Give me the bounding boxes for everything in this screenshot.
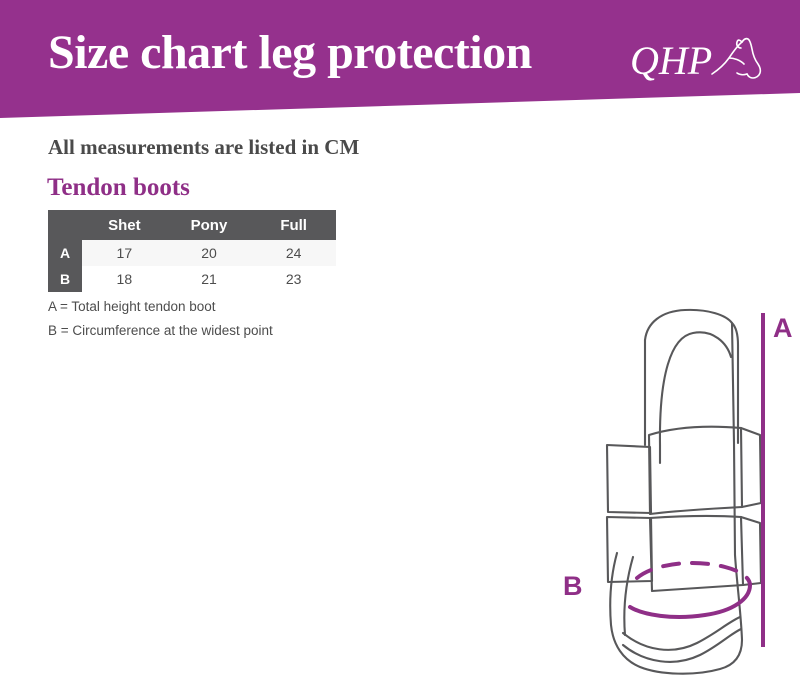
measurements-note: All measurements are listed in CM	[48, 135, 359, 160]
qhp-logo: QHP	[630, 36, 770, 88]
table-header-row: Shet Pony Full	[48, 210, 336, 240]
section-title-tendon-boots: Tendon boots	[47, 174, 190, 202]
boot-strap-lower-tail	[741, 517, 761, 585]
size-chart-table: Shet Pony Full A 17 20 24 B 18 21 23	[48, 210, 336, 292]
boot-fetlock-inner-curve	[623, 617, 740, 650]
column-header-full: Full	[251, 210, 336, 240]
cell-b-shet: 18	[82, 266, 167, 292]
boot-strap-upper-band	[649, 427, 742, 514]
boot-strap-lower-band	[650, 516, 743, 591]
horse-head-icon	[712, 39, 760, 78]
table-body: A 17 20 24 B 18 21 23	[48, 240, 336, 292]
row-label-b: B	[48, 266, 82, 292]
cell-a-shet: 17	[82, 240, 167, 266]
table-corner-cell	[48, 210, 82, 240]
tendon-boot-illustration: A B	[545, 295, 800, 680]
table-row: A 17 20 24	[48, 240, 336, 266]
boot-strap-upper-buckle	[607, 445, 651, 513]
cell-a-pony: 20	[167, 240, 252, 266]
table-header: Shet Pony Full	[48, 210, 336, 240]
boot-left-inner-seam	[624, 557, 633, 635]
measure-b-solid-arc	[630, 585, 750, 617]
boot-outline	[607, 310, 761, 674]
column-header-pony: Pony	[167, 210, 252, 240]
page-header: Size chart leg protection QHP	[0, 0, 800, 125]
cell-b-pony: 21	[167, 266, 252, 292]
legend-item-a: A = Total height tendon boot	[48, 295, 273, 319]
legend-item-b: B = Circumference at the widest point	[48, 319, 273, 343]
table-row: B 18 21 23	[48, 266, 336, 292]
legend: A = Total height tendon boot B = Circumf…	[48, 295, 273, 343]
cell-b-full: 23	[251, 266, 336, 292]
qhp-wordmark-text: QHP	[630, 38, 712, 83]
measure-b-dashed-arc	[637, 563, 750, 585]
boot-strap-upper-tail	[741, 428, 761, 507]
boot-fetlock-edge	[623, 629, 741, 662]
cell-a-full: 24	[251, 240, 336, 266]
row-label-a: A	[48, 240, 82, 266]
measure-b-label: B	[563, 571, 583, 601]
column-header-shet: Shet	[82, 210, 167, 240]
page-title: Size chart leg protection	[48, 26, 532, 80]
measure-a-label: A	[773, 313, 793, 343]
